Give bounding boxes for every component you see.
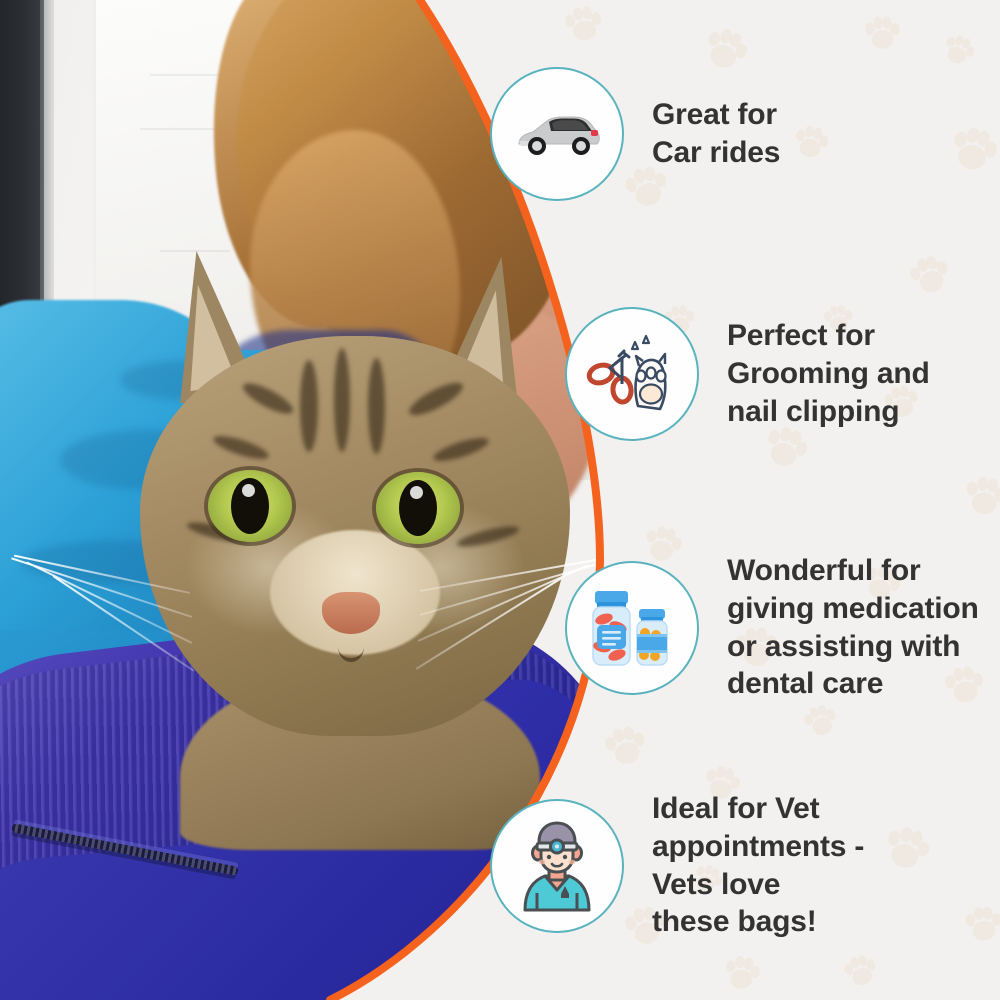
- feature-icon-circle: [490, 799, 624, 933]
- feature-label: Ideal for Vet appointments - Vets love t…: [652, 790, 864, 941]
- feature-label: Perfect for Grooming and nail clipping: [727, 317, 930, 430]
- cat-stripe: [334, 348, 350, 452]
- feature-item-vet[interactable]: Ideal for Vet appointments - Vets love t…: [490, 790, 864, 941]
- pill-bottles-icon: [584, 585, 680, 671]
- feature-item-grooming[interactable]: Perfect for Grooming and nail clipping: [565, 307, 930, 441]
- cat-eye-glint: [410, 486, 423, 499]
- cat-stripe: [368, 358, 385, 454]
- feature-label: Great for Car rides: [652, 96, 780, 172]
- feature-list: Great for Car rides: [470, 0, 1000, 1000]
- feature-icon-circle: [565, 561, 699, 695]
- infographic-canvas: Great for Car rides: [0, 0, 1000, 1000]
- cat-stripe: [300, 360, 318, 452]
- cat-eye-glint: [242, 484, 255, 497]
- veterinarian-icon: [509, 820, 605, 912]
- cat-mouth: [338, 632, 364, 662]
- nail-clipper-paw-icon: [586, 332, 678, 416]
- feature-icon-circle: [490, 67, 624, 201]
- feature-icon-circle: [565, 307, 699, 441]
- car-icon: [511, 108, 603, 160]
- feature-label: Wonderful for giving medication or assis…: [727, 552, 979, 703]
- feature-item-car-rides[interactable]: Great for Car rides: [490, 67, 780, 201]
- feature-item-medication[interactable]: Wonderful for giving medication or assis…: [565, 552, 979, 703]
